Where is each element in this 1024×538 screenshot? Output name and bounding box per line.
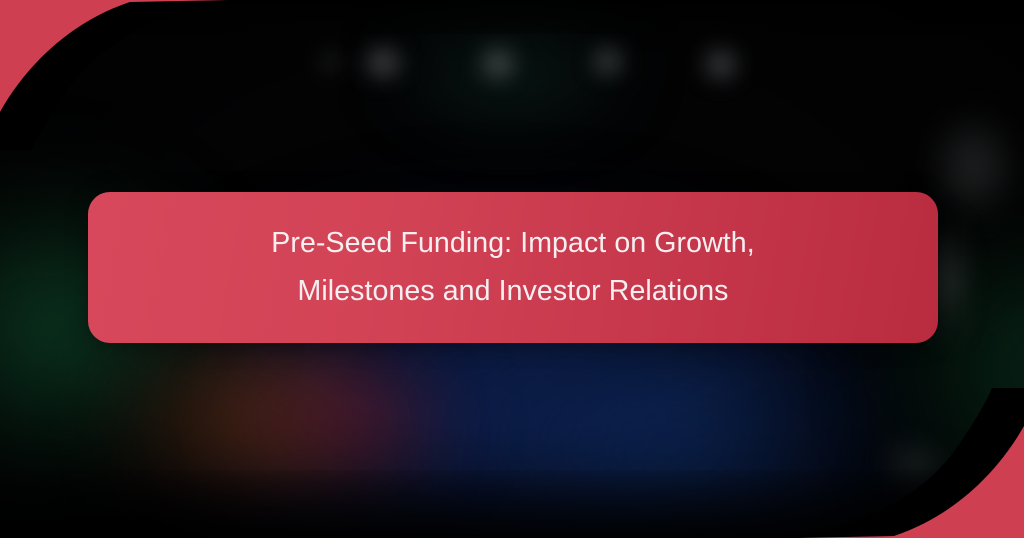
page-title: Pre-Seed Funding: Impact on Growth, Mile… (245, 220, 781, 314)
slide-canvas: Pre-Seed Funding: Impact on Growth, Mile… (0, 0, 1024, 538)
corner-swoosh-bottom-right (794, 388, 1024, 538)
title-card: Pre-Seed Funding: Impact on Growth, Mile… (88, 192, 938, 343)
corner-swoosh-top-left (0, 0, 230, 150)
